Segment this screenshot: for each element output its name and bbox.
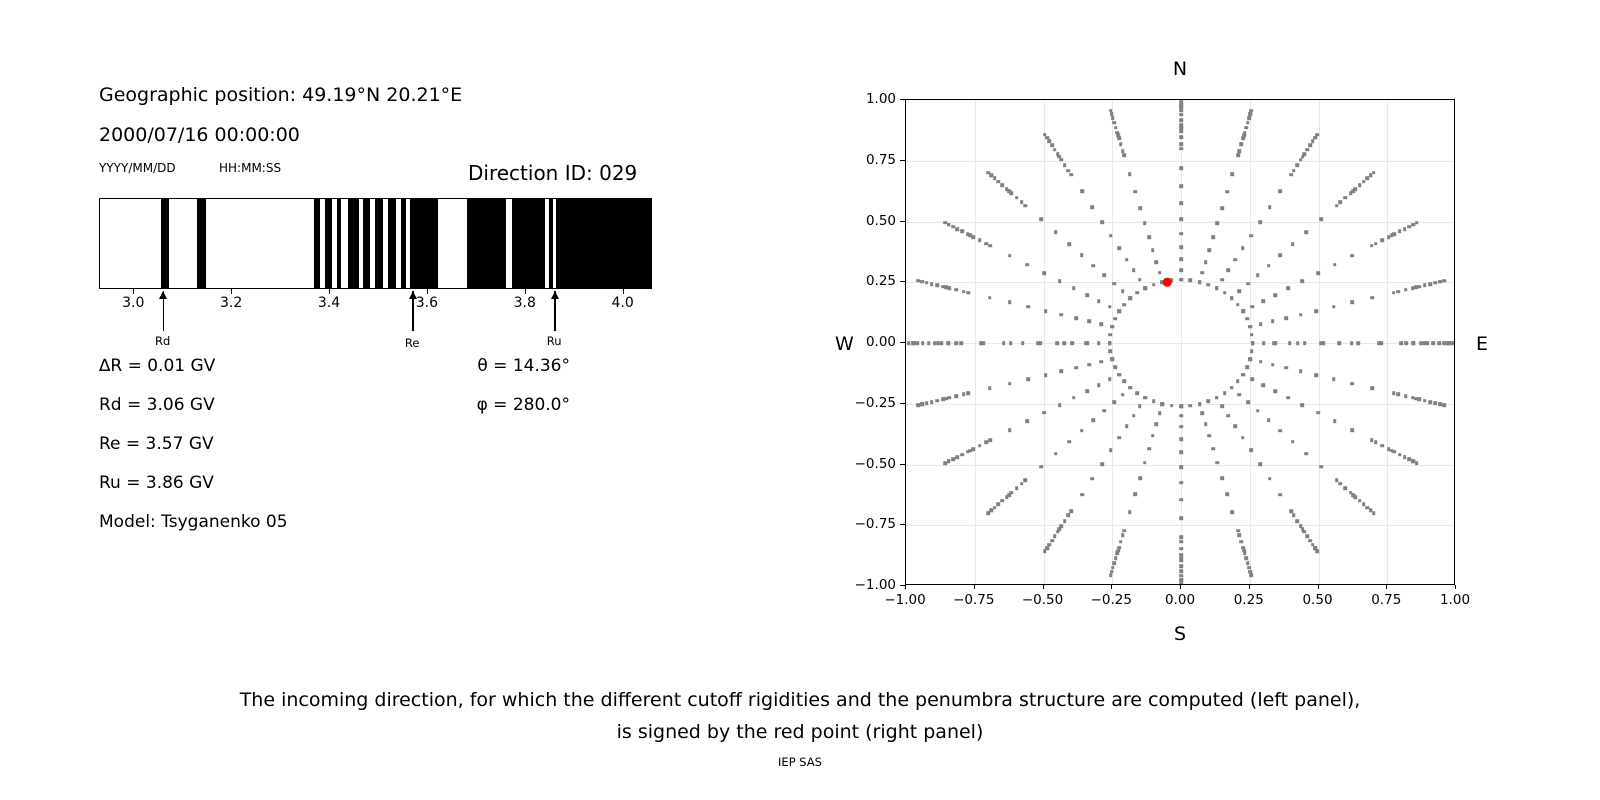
direction-grid-dot: [1092, 264, 1096, 268]
direction-grid-dot: [1132, 414, 1136, 418]
direction-grid-dot: [1001, 183, 1005, 187]
direction-grid-dot: [1143, 221, 1147, 225]
direction-grid-dot: [1248, 358, 1252, 362]
direction-grid-dot: [1315, 550, 1319, 554]
direction-grid-dot: [1437, 341, 1441, 345]
direction-grid-dot: [1043, 550, 1047, 554]
penumbra-forbidden-band: [556, 199, 652, 288]
direction-grid-dot: [956, 227, 960, 231]
direction-grid-dot: [1246, 562, 1250, 566]
direction-grid-dot: [1305, 452, 1309, 456]
direction-grid-dot: [1112, 400, 1116, 404]
direction-grid-dot: [1387, 235, 1391, 239]
direction-grid-dot: [1008, 429, 1012, 433]
direction-grid-dot: [1403, 227, 1407, 231]
direction-grid-dot: [1438, 403, 1442, 407]
penumbra-forbidden-band: [161, 199, 169, 288]
direction-grid-dot: [1179, 147, 1183, 151]
direction-grid-dot: [1050, 144, 1054, 148]
direction-grid-dot: [1251, 305, 1255, 309]
rigidity-marker-arrow-re: [412, 291, 413, 331]
direction-grid-dot: [1220, 206, 1224, 210]
direction-grid-dot: [1088, 363, 1092, 367]
direction-grid-dot: [1268, 477, 1272, 481]
direction-grid-dot: [1349, 191, 1353, 195]
penumbra-tick: [525, 289, 526, 294]
direction-grid-dot: [1002, 341, 1006, 345]
x-axis-tick: [1043, 585, 1044, 589]
direction-grid-dot: [1247, 566, 1251, 570]
direction-grid-dot: [1305, 148, 1309, 152]
direction-grid-dot: [1308, 144, 1312, 148]
direction-grid-dot: [1230, 172, 1234, 176]
y-axis-tick: [900, 221, 905, 222]
direction-grid-dot: [1152, 400, 1156, 404]
direction-grid-dot: [1268, 205, 1272, 209]
rigidity-marker-arrow-ru: [554, 291, 555, 331]
direction-grid-dot: [1216, 221, 1220, 225]
direction-grid-dot: [978, 444, 982, 448]
direction-grid-dot: [1179, 166, 1183, 170]
direction-grid-dot: [1351, 254, 1355, 258]
direction-grid-dot: [1179, 547, 1183, 551]
direction-grid-dot: [1322, 341, 1326, 345]
penumbra-forbidden-band: [363, 199, 369, 288]
y-axis-tick-label: 1.00: [866, 91, 896, 107]
direction-grid-dot: [921, 341, 925, 345]
direction-grid-dot: [1020, 201, 1024, 205]
direction-grid-dot: [1179, 569, 1183, 573]
y-axis-tick-label: −0.75: [855, 516, 896, 532]
direction-grid-dot: [1108, 349, 1112, 353]
direction-grid-dot: [1247, 116, 1251, 120]
direction-grid-dot: [967, 392, 971, 396]
direction-grid-dot: [925, 401, 929, 405]
direction-grid-dot: [1170, 404, 1174, 408]
direction-grid-dot: [1370, 296, 1374, 300]
direction-grid-dot: [1045, 546, 1049, 550]
y-axis-tick: [900, 464, 905, 465]
y-axis-tick-label: −0.50: [855, 456, 896, 472]
direction-grid-dot: [1392, 392, 1396, 396]
direction-grid-dot: [1179, 498, 1183, 502]
direction-grid-dot: [1261, 299, 1265, 303]
gridline-horizontal: [906, 222, 1454, 223]
direction-grid-dot: [1039, 465, 1043, 469]
param-phi: φ = 280.0°: [477, 395, 570, 415]
penumbra-tick: [623, 289, 624, 294]
direction-grid-dot: [1114, 126, 1118, 130]
direction-grid-dot: [1179, 540, 1183, 544]
direction-grid-dot: [1102, 409, 1106, 413]
direction-grid-dot: [1136, 391, 1140, 395]
direction-grid-dot: [1419, 341, 1423, 345]
direction-grid-dot: [930, 400, 934, 404]
direction-grid-dot: [1351, 429, 1355, 433]
direction-grid-dot: [939, 341, 943, 345]
direction-grid-dot: [1024, 204, 1028, 208]
direction-grid-dot: [947, 460, 951, 464]
direction-grid-dot: [947, 223, 951, 227]
direction-grid-dot: [1362, 502, 1366, 506]
direction-grid-dot: [1411, 396, 1415, 400]
direction-grid-dot: [967, 291, 971, 295]
direction-grid-dot: [1155, 260, 1159, 264]
direction-grid-dot: [1147, 447, 1151, 451]
direction-grid-dot: [1230, 510, 1234, 514]
direction-grid-dot: [1278, 493, 1282, 497]
direction-grid-dot: [1179, 124, 1183, 128]
direction-grid-dot: [1100, 360, 1104, 364]
direction-grid-dot: [916, 279, 920, 283]
cardinal-label-east: E: [1476, 333, 1488, 355]
right-panel: N S W E −1.00−0.75−0.50−0.250.000.250.50…: [800, 0, 1600, 660]
penumbra-forbidden-band: [410, 199, 437, 288]
direction-grid-dot: [1251, 378, 1255, 382]
direction-grid-dot: [1237, 533, 1241, 537]
direction-grid-dot: [916, 403, 920, 407]
direction-grid-dot: [1369, 174, 1373, 178]
direction-grid-dot: [1067, 242, 1071, 246]
direction-grid-dot: [1291, 440, 1295, 444]
direction-grid-dot: [1272, 341, 1276, 345]
direction-grid-dot: [1122, 380, 1126, 384]
direction-grid-dot: [1412, 341, 1416, 345]
direction-grid-dot: [1207, 434, 1211, 438]
direction-grid-dot: [1374, 441, 1378, 445]
direction-grid-dot: [1128, 510, 1132, 514]
direction-grid-dot: [955, 394, 959, 398]
cardinal-label-west: W: [835, 333, 854, 355]
direction-grid-dot: [1122, 153, 1126, 157]
gridline-horizontal: [906, 343, 1454, 344]
penumbra-axis: 3.03.23.43.63.84.0RdReRu: [99, 289, 652, 349]
direction-grid-dot: [1133, 493, 1137, 497]
direction-grid-dot: [1125, 258, 1129, 262]
direction-grid-dot: [1179, 481, 1183, 485]
penumbra-forbidden-band: [325, 199, 332, 288]
direction-grid-dot: [1438, 280, 1442, 284]
time-format-hint: HH:MM:SS: [219, 161, 281, 175]
direction-grid-dot: [1245, 126, 1249, 130]
penumbra-tick-label: 3.2: [220, 295, 242, 311]
rigidity-marker-label-re: Re: [405, 336, 420, 350]
y-axis-tick-label: 0.75: [866, 152, 896, 168]
direction-grid-dot: [1179, 536, 1183, 540]
direction-grid-dot: [1245, 557, 1249, 561]
direction-grid-dot: [1311, 543, 1315, 547]
direction-grid-dot: [1442, 403, 1446, 407]
direction-grid-dot: [1220, 404, 1224, 408]
direction-grid-dot: [941, 398, 945, 402]
x-axis-tick: [1318, 585, 1319, 589]
direction-grid-dot: [1271, 363, 1275, 367]
direction-grid-dot: [1211, 236, 1215, 240]
direction-grid-dot: [1151, 434, 1155, 438]
penumbra-tick: [329, 289, 330, 294]
cardinal-label-south: S: [1174, 623, 1186, 645]
direction-grid-dot: [1434, 281, 1438, 285]
direction-grid-dot: [1397, 393, 1401, 397]
direction-grid-dot: [1054, 452, 1058, 456]
direction-grid-dot: [962, 393, 966, 397]
direction-grid-dot: [1179, 425, 1183, 429]
direction-grid-dot: [1112, 121, 1116, 125]
direction-grid-dot: [1058, 279, 1062, 283]
direction-grid-dot: [1086, 341, 1090, 345]
direction-grid-dot: [1429, 400, 1433, 404]
direction-grid-dot: [1241, 310, 1245, 314]
direction-grid-dot: [1050, 539, 1054, 543]
penumbra-tick: [231, 289, 232, 294]
direction-grid-dot: [984, 242, 988, 246]
penumbra-plot: [99, 198, 652, 289]
direction-grid-dot: [1110, 358, 1114, 362]
y-axis-tick: [900, 281, 905, 282]
selected-direction-point[interactable]: [1163, 278, 1172, 287]
direction-grid-dot: [1063, 519, 1067, 523]
direction-grid-dot: [1278, 254, 1282, 258]
direction-grid-dot: [1133, 190, 1137, 194]
direction-grid-dot: [1225, 190, 1229, 194]
direction-grid-dot: [1404, 288, 1408, 292]
direction-grid-dot: [1111, 116, 1115, 120]
direction-grid-dot: [1074, 316, 1078, 320]
direction-grid-dot: [961, 453, 965, 457]
direction-grid-dot: [1215, 286, 1219, 290]
penumbra-forbidden-band: [337, 199, 341, 288]
direction-grid-dot: [1021, 341, 1025, 345]
direction-grid-dot: [1234, 424, 1238, 428]
direction-grid-dot: [1220, 278, 1224, 282]
direction-grid-dot: [1393, 450, 1397, 454]
direction-grid-dot: [1404, 394, 1408, 398]
direction-grid-dot: [1358, 499, 1362, 503]
direction-grid-dot: [1015, 196, 1019, 200]
direction-grid-dot: [1423, 399, 1427, 403]
direction-grid-dot: [1092, 419, 1096, 423]
direction-grid-dot: [1284, 366, 1288, 370]
direction-grid-dot: [1109, 234, 1113, 238]
direction-grid-dot: [1370, 244, 1374, 248]
direction-grid-dot: [1179, 414, 1183, 418]
direction-grid-dot: [1005, 495, 1009, 499]
direction-grid-dot: [1059, 158, 1063, 162]
direction-grid-dot: [1207, 283, 1211, 287]
direction-grid-dot: [1179, 437, 1183, 441]
direction-grid-dot: [1059, 525, 1063, 529]
direction-grid-dot: [1315, 373, 1319, 377]
direction-grid-dot: [1097, 383, 1101, 387]
direction-grid-dot: [1158, 412, 1162, 416]
direction-grid-dot: [1374, 242, 1378, 246]
direction-grid-dot: [1085, 389, 1089, 393]
penumbra-forbidden-band: [375, 199, 383, 288]
direction-grid-dot: [1236, 303, 1240, 307]
direction-grid-dot: [1179, 129, 1183, 133]
direction-grid-dot: [1241, 373, 1245, 377]
direction-grid-dot: [1201, 412, 1205, 416]
direction-grid-dot: [1286, 287, 1290, 291]
y-axis-tick-label: 0.50: [866, 213, 896, 229]
direction-grid-dot: [1399, 341, 1403, 345]
penumbra-tick-label: 3.4: [318, 295, 340, 311]
gridline-vertical: [975, 100, 976, 584]
direction-id-label: Direction ID: 029: [468, 161, 637, 185]
direction-grid-dot: [1024, 479, 1028, 483]
direction-grid-dot: [927, 341, 931, 345]
gridline-vertical: [1044, 100, 1045, 584]
direction-grid-dot: [930, 282, 934, 286]
direction-grid-dot: [1080, 190, 1084, 194]
rigidity-marker-label-ru: Ru: [547, 334, 562, 348]
y-axis-tick: [900, 160, 905, 161]
caption-line-1: The incoming direction, for which the di…: [0, 684, 1600, 716]
caption-line-2: is signed by the red point (right panel): [0, 716, 1600, 748]
gridline-horizontal: [906, 161, 1454, 162]
direction-grid-dot: [1054, 230, 1058, 234]
direction-grid-dot: [989, 438, 993, 442]
direction-grid-dot: [1291, 242, 1295, 246]
y-axis-tick: [900, 342, 905, 343]
direction-grid-dot: [1299, 525, 1303, 529]
direction-grid-dot: [1246, 121, 1250, 125]
direction-grid-dot: [1429, 282, 1433, 286]
direction-grid-dot: [948, 286, 952, 290]
direction-grid-dot: [1179, 268, 1183, 272]
direction-grid-dot: [941, 285, 945, 289]
direction-grid-dot: [1129, 297, 1133, 301]
date-format-hint: YYYY/MM/DD: [99, 161, 176, 175]
direction-grid-dot: [1333, 263, 1337, 267]
x-axis-tick-label: −1.00: [884, 592, 925, 608]
y-axis-tick-label: −0.25: [855, 395, 896, 411]
direction-grid-dot: [907, 341, 911, 345]
direction-grid-dot: [1109, 574, 1113, 578]
gridline-vertical: [1387, 100, 1388, 584]
direction-grid-dot: [1249, 234, 1253, 238]
x-axis-tick-label: 0.50: [1302, 592, 1332, 608]
direction-grid-dot: [1407, 225, 1411, 229]
direction-grid-dot: [1179, 559, 1183, 563]
y-axis-tick-label: −1.00: [855, 577, 896, 593]
direction-grid-dot: [1237, 149, 1241, 153]
direction-grid-dot: [1248, 325, 1252, 329]
penumbra-tick-label: 4.0: [611, 295, 633, 311]
direction-grid-dot: [1230, 297, 1234, 301]
direction-grid-dot: [1113, 317, 1117, 321]
direction-grid-dot: [1249, 570, 1253, 574]
direction-grid-dot: [1121, 149, 1125, 153]
direction-grid-dot: [1426, 341, 1430, 345]
direction-grid-dot: [1411, 223, 1415, 227]
direction-grid-dot: [1407, 458, 1411, 462]
direction-grid-dot: [1132, 269, 1136, 273]
direction-grid-dot: [1108, 341, 1112, 345]
direction-grid-dot: [1067, 513, 1071, 517]
direction-grid-dot: [1179, 257, 1183, 261]
direction-grid-dot: [1288, 341, 1292, 345]
direction-grid-dot: [1158, 271, 1162, 275]
direction-grid-dot: [1258, 462, 1262, 466]
direction-grid-dot: [1097, 341, 1101, 345]
direction-grid-dot: [1243, 551, 1247, 555]
direction-grid-dot: [997, 502, 1001, 506]
direction-grid-dot: [1230, 386, 1234, 390]
penumbra-forbidden-band: [388, 199, 395, 288]
direction-grid-dot: [1259, 322, 1263, 326]
direction-grid-dot: [1125, 424, 1129, 428]
direction-grid-dot: [1085, 293, 1089, 297]
direction-grid-dot: [947, 341, 951, 345]
rigidity-marker-arrow-rd: [163, 291, 164, 331]
left-panel: Geographic position: 49.19°N 20.21°E 200…: [0, 0, 800, 660]
direction-grid-dot: [1088, 320, 1092, 324]
direction-grid-dot: [1121, 290, 1125, 294]
direction-grid-dot: [956, 455, 960, 459]
direction-grid-dot: [925, 281, 929, 285]
direction-grid-dot: [1411, 460, 1415, 464]
direction-grid-dot: [1365, 177, 1369, 181]
direction-grid-dot: [1316, 271, 1320, 275]
direction-grid-dot: [1044, 309, 1048, 313]
direction-grid-dot: [1442, 279, 1446, 283]
x-axis-tick: [1180, 585, 1181, 589]
direction-grid-dot: [1138, 404, 1142, 408]
direction-grid-dot: [1056, 530, 1060, 534]
direction-grid-dot: [1152, 283, 1156, 287]
direction-grid-dot: [1074, 366, 1078, 370]
penumbra-forbidden-band: [467, 199, 506, 288]
direction-grid-dot: [1067, 169, 1071, 173]
direction-grid-dot: [1147, 236, 1151, 240]
direction-grid-dot: [948, 396, 952, 400]
direction-grid-dot: [1387, 447, 1391, 451]
direction-grid-dot: [1358, 183, 1362, 187]
direction-grid-dot: [966, 232, 970, 236]
x-axis-tick: [1249, 585, 1250, 589]
direction-grid-dot: [1198, 280, 1202, 284]
param-theta: θ = 14.36°: [477, 356, 570, 376]
direction-grid-dot: [1179, 578, 1183, 582]
direction-grid-dot: [1100, 462, 1104, 466]
direction-grid-dot: [1220, 476, 1224, 480]
direction-grid-dot: [1286, 396, 1290, 400]
direction-grid-dot: [1044, 373, 1048, 377]
x-axis-tick: [1455, 585, 1456, 589]
direction-grid-dot: [1058, 403, 1062, 407]
direction-grid-axes: [905, 99, 1455, 585]
direction-grid-dot: [955, 288, 959, 292]
direction-grid-dot: [1119, 143, 1123, 147]
direction-grid-dot: [1060, 313, 1064, 317]
direction-grid-dot: [1117, 373, 1121, 377]
x-axis-tick-label: −0.50: [1022, 592, 1063, 608]
direction-grid-dot: [1010, 191, 1014, 195]
direction-grid-dot: [1351, 301, 1355, 305]
direction-grid-dot: [1109, 449, 1113, 453]
direction-grid-dot: [920, 280, 924, 284]
direction-grid-dot: [1415, 461, 1419, 465]
penumbra-forbidden-band: [348, 199, 359, 288]
direction-grid-dot: [1008, 301, 1012, 305]
direction-grid-dot: [1001, 499, 1005, 503]
x-axis-tick-label: 0.25: [1234, 592, 1264, 608]
x-axis-tick: [1111, 585, 1112, 589]
direction-grid-dot: [1299, 313, 1303, 317]
direction-grid-dot: [1179, 109, 1183, 113]
x-axis-tick: [974, 585, 975, 589]
